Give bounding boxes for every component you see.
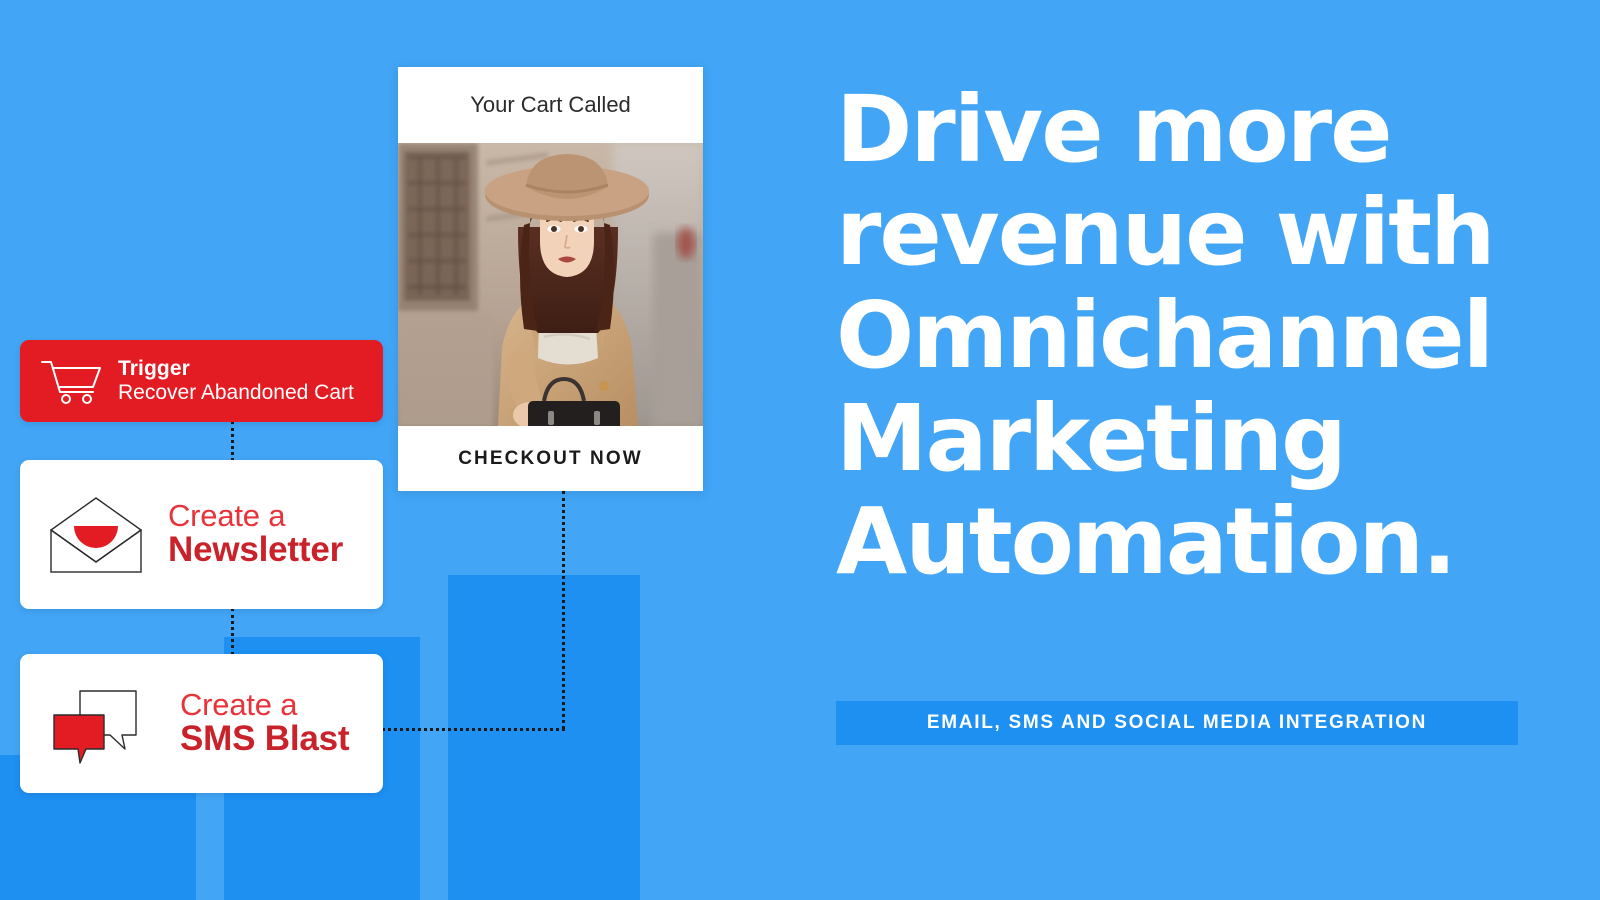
open-envelope-icon	[48, 496, 144, 574]
newsletter-line-2: Newsletter	[168, 532, 343, 568]
trigger-title: Trigger	[118, 357, 354, 381]
newsletter-card[interactable]: Create a Newsletter	[20, 460, 383, 609]
trigger-subtitle: Recover Abandoned Cart	[118, 381, 354, 405]
integration-badge-label: EMAIL, SMS AND SOCIAL MEDIA INTEGRATION	[927, 712, 1427, 734]
sms-blast-card-text: Create a SMS Blast	[180, 689, 349, 758]
mockup-photo	[398, 143, 703, 426]
background-block-center	[448, 575, 640, 900]
sms-line-2: SMS Blast	[180, 721, 349, 757]
sms-line-1: Create a	[180, 689, 349, 721]
integration-badge: EMAIL, SMS AND SOCIAL MEDIA INTEGRATION	[836, 701, 1518, 745]
connector-sms-to-mockup	[382, 728, 565, 731]
speech-bubbles-icon	[48, 683, 166, 765]
promo-banner: Trigger Recover Abandoned Cart Create a …	[0, 0, 1600, 900]
trigger-card[interactable]: Trigger Recover Abandoned Cart	[20, 340, 383, 422]
trigger-card-text: Trigger Recover Abandoned Cart	[118, 357, 354, 406]
newsletter-line-1: Create a	[168, 500, 343, 532]
hero-copy: Drive more revenue with Omnichannel Mark…	[836, 78, 1536, 593]
connector-newsletter-to-sms	[231, 608, 234, 655]
email-mockup[interactable]: Your Cart Called	[398, 67, 703, 491]
hero-title: Drive more revenue with Omnichannel Mark…	[836, 78, 1536, 593]
sms-blast-card[interactable]: Create a SMS Blast	[20, 654, 383, 793]
checkout-now-button[interactable]: CHECKOUT NOW	[398, 426, 703, 491]
newsletter-card-text: Create a Newsletter	[168, 500, 343, 569]
mockup-header: Your Cart Called	[398, 67, 703, 143]
shopping-cart-icon	[40, 358, 104, 404]
connector-mockup-vertical	[562, 491, 565, 729]
